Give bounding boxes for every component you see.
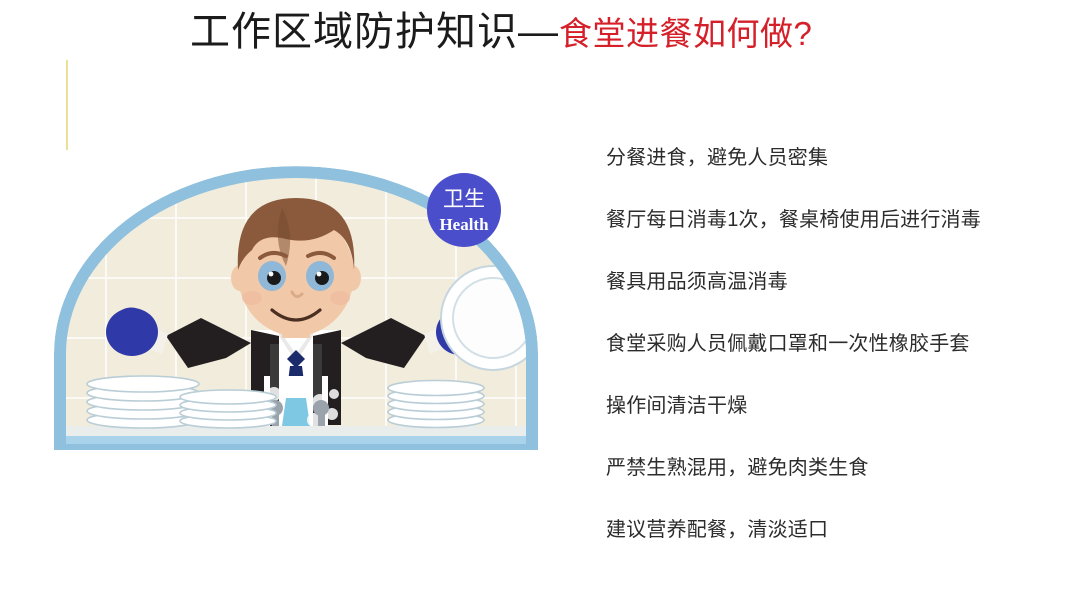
page-title: 工作区域防护知识— 食堂进餐如何做? [190,12,812,52]
bullet-item: 分餐进食，避免人员密集 [606,148,1076,168]
bullet-list: 分餐进食，避免人员密集 餐厅每日消毒1次，餐桌椅使用后进行消毒 餐具用品须高温消… [606,148,1076,540]
bullet-item: 操作间清洁干燥 [606,396,1076,416]
plate-stack-center [180,390,276,428]
plate-stack-right [388,381,484,428]
hygiene-badge-line2: Health [439,215,489,234]
bullet-item: 严禁生熟混用，避免肉类生食 [606,458,1076,478]
page-title-accent: 食堂进餐如何做? [559,17,812,50]
bullet-item: 餐具用品须高温消毒 [606,272,1076,292]
page-title-main: 工作区域防护知识— [190,12,559,52]
hygiene-badge: 卫生 Health [427,173,501,247]
bullet-item: 餐厅每日消毒1次，餐桌椅使用后进行消毒 [606,210,1076,230]
bullet-item: 建议营养配餐，清淡适口 [606,520,1076,540]
hygiene-badge-line1: 卫生 [443,188,485,211]
bullet-item: 食堂采购人员佩戴口罩和一次性橡胶手套 [606,334,1076,354]
counter [46,426,546,458]
slide-root: 工作区域防护知识— 食堂进餐如何做? [0,0,1080,606]
accent-rule [66,60,68,150]
canteen-waiter-illustration: 卫生 Health [46,158,546,458]
